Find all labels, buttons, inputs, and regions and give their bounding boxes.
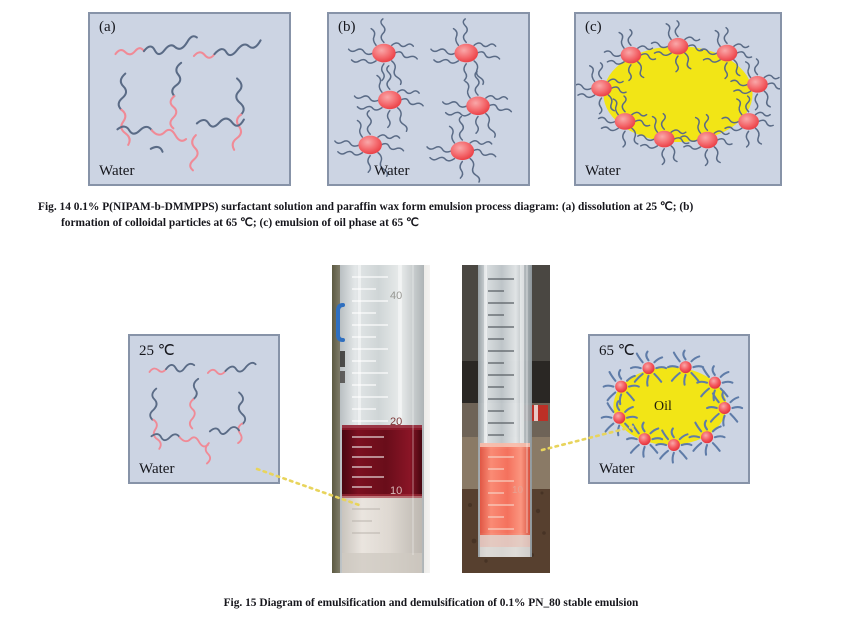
photo-emulsified-cylinder: 10: [462, 265, 550, 573]
temperature-label: 65 ℃: [599, 341, 635, 360]
panel-tag: (c): [585, 19, 602, 36]
fig14-panel-a: (a) Water: [88, 12, 291, 186]
oil-emulsion-illustration: [576, 14, 780, 184]
phase-label-water: Water: [139, 461, 174, 478]
fig14-caption: Fig. 14 0.1% P(NIPAM-b-DMMPPS) surfactan…: [38, 200, 824, 231]
phase-label-water: Water: [374, 163, 409, 180]
colloidal-particles-illustration: [329, 14, 528, 184]
fig14-panel-c: (c) Water: [574, 12, 782, 186]
phase-label-water: Water: [585, 163, 620, 180]
fig15-caption: Fig. 15 Diagram of emulsification and de…: [38, 596, 824, 612]
dissolved-chains-illustration: [90, 14, 289, 184]
phase-label-water: Water: [599, 461, 634, 478]
fig15-caption-text: Fig. 15 Diagram of emulsification and de…: [224, 597, 639, 609]
graduated-cylinder-separated: 40 20 10: [332, 265, 430, 573]
fig14-panel-b: (b) Water: [327, 12, 530, 186]
connector-left: [255, 455, 365, 515]
phase-label-water: Water: [99, 163, 134, 180]
panel-tag: (b): [338, 19, 356, 36]
graduation-label-40: 40: [390, 290, 402, 302]
graduation-label-20: 20: [390, 416, 402, 428]
fig15-panel-right: 65 ℃ Oil Water: [588, 334, 750, 484]
graduation-label-10: 10: [512, 485, 524, 496]
graduated-cylinder-emulsion: 10: [462, 265, 550, 573]
temperature-label: 25 ℃: [139, 341, 175, 360]
panel-tag: (a): [99, 19, 116, 36]
oil-label: Oil: [654, 399, 672, 415]
fig14-caption-line1: Fig. 14 0.1% P(NIPAM-b-DMMPPS) surfactan…: [38, 201, 693, 213]
photo-demulsified-cylinder: 40 20 10: [332, 265, 430, 573]
fig14-caption-line2: formation of colloidal particles at 65 ℃…: [38, 216, 824, 232]
graduation-label-10: 10: [390, 485, 402, 497]
